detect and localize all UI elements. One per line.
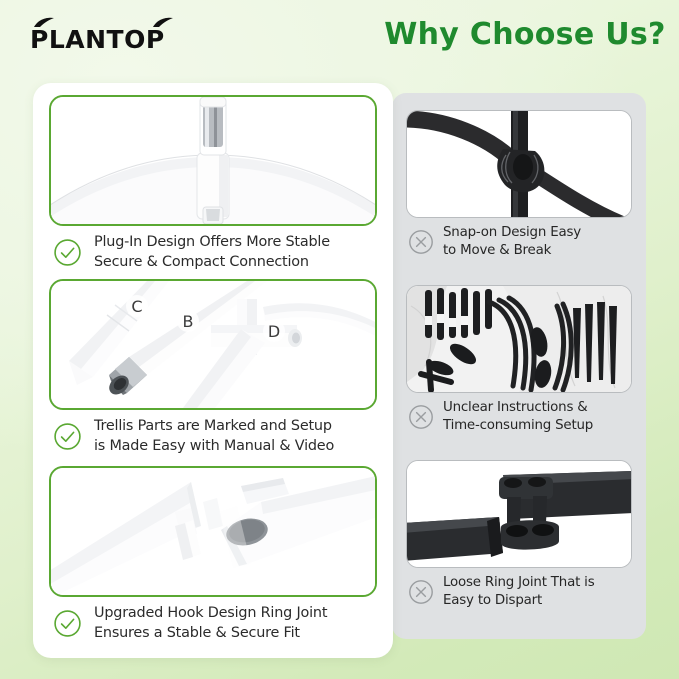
con-item: Unclear Instructions & Time-consuming Se… [406,285,632,435]
pro-image-marked-parts: C B D [49,279,377,410]
con-image-loose-ring-joint [406,460,632,568]
pro-caption: Plug-In Design Offers More Stable Secure… [49,226,377,273]
pro-item: Plug-In Design Offers More Stable Secure… [49,95,377,273]
white-arched-trellis-illustration [51,97,375,224]
page-title: Why Choose Us? [380,17,670,52]
con-item: Snap-on Design Easy to Move & Break [406,110,632,260]
check-circle-icon [53,609,82,638]
cross-circle-icon [408,229,434,255]
white-marked-parts-illustration: C B D [51,281,375,408]
white-hook-ring-joint-illustration [51,468,375,595]
cross-circle-icon [408,404,434,430]
part-label-b: B [183,312,194,331]
check-circle-icon [53,238,82,267]
check-circle-icon [53,422,82,451]
con-caption: Snap-on Design Easy to Move & Break [406,218,632,260]
pro-item: Upgraded Hook Design Ring Joint Ensures … [49,466,377,644]
part-label-c: C [131,297,142,316]
pro-item: C B D Trellis Parts are Marked and Setup… [49,279,377,457]
black-parts-pile-illustration [407,286,632,393]
pro-caption-text: Plug-In Design Offers More Stable Secure… [94,233,330,273]
brand-logo-text: PLANTOP [30,27,165,52]
con-image-unclear-parts-pile [406,285,632,393]
pros-card: Plug-In Design Offers More Stable Secure… [33,83,393,658]
con-image-snap-on-clip [406,110,632,218]
pro-image-plug-in-design [49,95,377,226]
con-caption-text: Loose Ring Joint That is Easy to Dispart [443,574,594,610]
header: PLANTOP Why Choose Us? [0,0,679,70]
con-caption: Unclear Instructions & Time-consuming Se… [406,393,632,435]
black-loose-ring-joint-illustration [407,461,632,568]
pro-caption-text: Trellis Parts are Marked and Setup is Ma… [94,417,334,457]
cons-card: Snap-on Design Easy to Move & Break [392,93,646,639]
pro-image-hook-ring-joint [49,466,377,597]
pro-caption-text: Upgraded Hook Design Ring Joint Ensures … [94,604,327,644]
part-label-d: D [268,322,280,341]
con-caption-text: Unclear Instructions & Time-consuming Se… [443,399,593,435]
pro-caption: Upgraded Hook Design Ring Joint Ensures … [49,597,377,644]
comparison-infographic: PLANTOP Why Choose Us? [0,0,679,679]
cross-circle-icon [408,579,434,605]
con-caption-text: Snap-on Design Easy to Move & Break [443,224,581,260]
con-item: Loose Ring Joint That is Easy to Dispart [406,460,632,610]
pro-caption: Trellis Parts are Marked and Setup is Ma… [49,410,377,457]
brand-logo: PLANTOP [30,20,165,52]
con-caption: Loose Ring Joint That is Easy to Dispart [406,568,632,610]
black-snap-on-clip-illustration [407,111,632,218]
